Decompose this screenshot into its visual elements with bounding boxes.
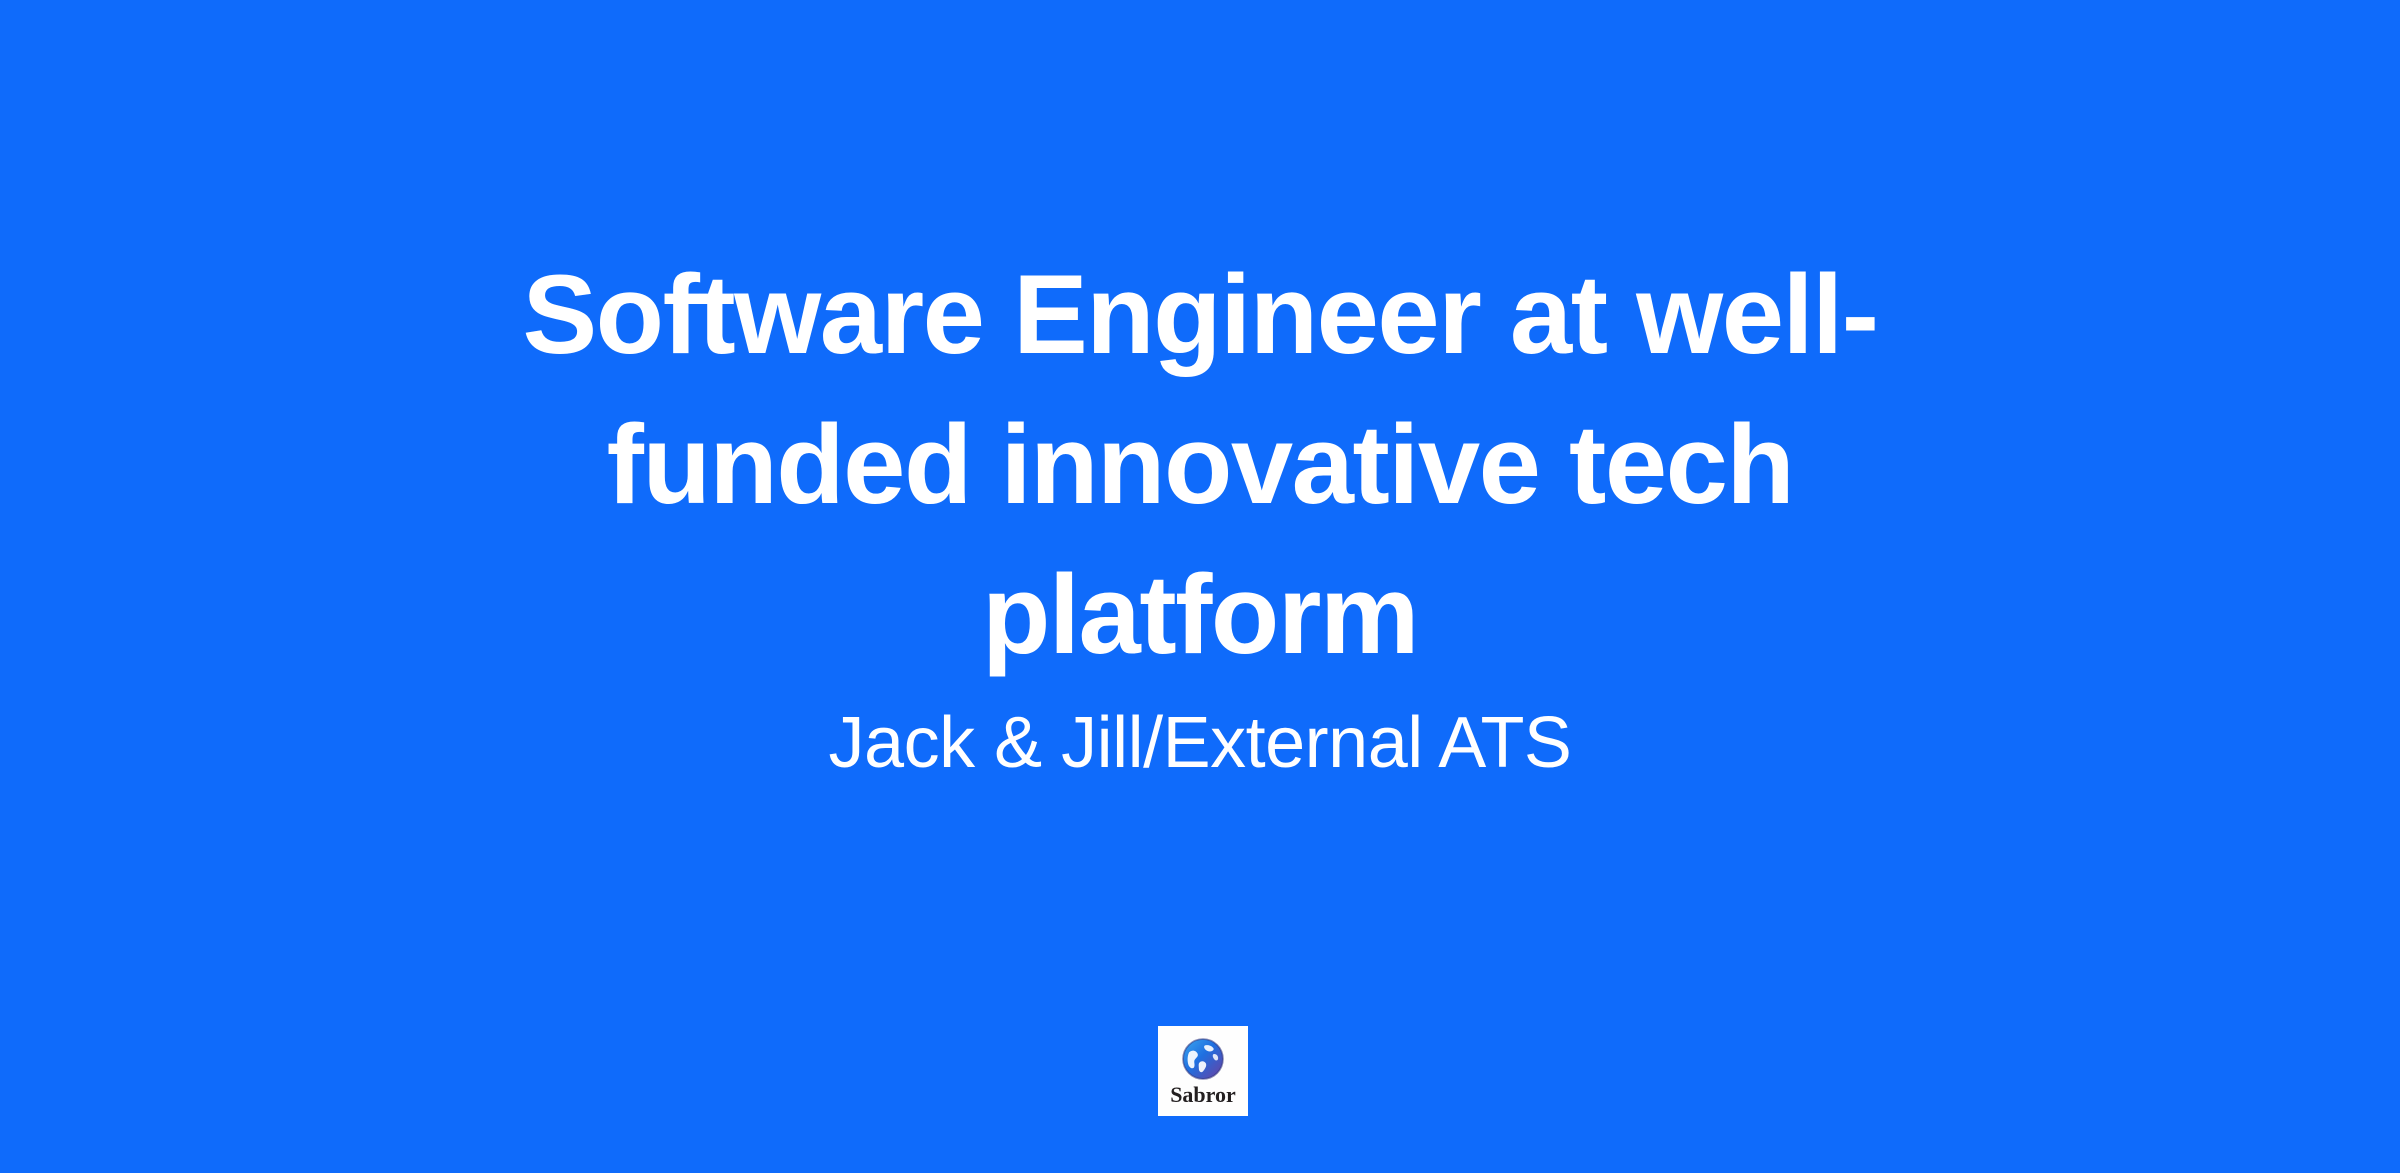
brand-logo: Sabror bbox=[1158, 1026, 1248, 1116]
page-title: Software Engineer at well-funded innovat… bbox=[470, 240, 1930, 690]
hero-text-block: Software Engineer at well-funded innovat… bbox=[470, 240, 1930, 786]
brand-name: Sabror bbox=[1170, 1083, 1236, 1107]
globe-icon bbox=[1181, 1037, 1225, 1081]
job-posting-slide: Software Engineer at well-funded innovat… bbox=[0, 0, 2400, 1173]
page-subtitle: Jack & Jill/External ATS bbox=[470, 700, 1930, 786]
